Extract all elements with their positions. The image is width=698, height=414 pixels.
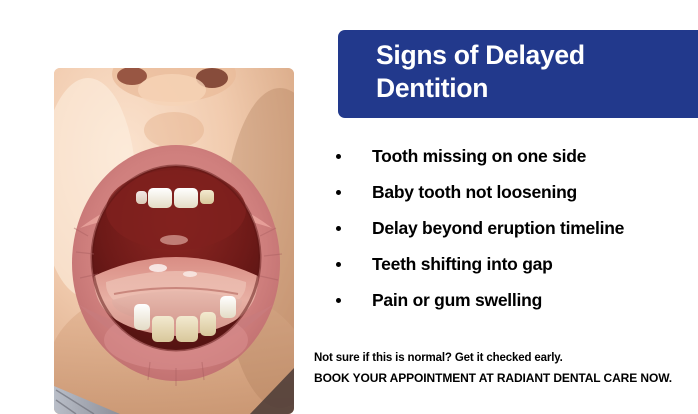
list-item: Baby tooth not loosening: [294, 174, 698, 210]
title-banner: Signs of Delayed Dentition: [338, 30, 698, 118]
footer-cta: Not sure if this is normal? Get it check…: [314, 348, 698, 388]
bullet-point-icon: [336, 226, 341, 231]
content-panel: Signs of Delayed Dentition Tooth missing…: [294, 0, 698, 414]
list-item-label: Teeth shifting into gap: [372, 254, 553, 275]
page-title-line1: Signs of Delayed: [376, 39, 684, 72]
bullet-point-icon: [336, 298, 341, 303]
signs-list: Tooth missing on one side Baby tooth not…: [294, 138, 698, 318]
page-title-line2: Dentition: [376, 72, 684, 105]
list-item: Teeth shifting into gap: [294, 246, 698, 282]
bullet-point-icon: [336, 190, 341, 195]
bullet-point-icon: [336, 262, 341, 267]
footer-prompt: Not sure if this is normal? Get it check…: [314, 348, 698, 368]
bullet-point-icon: [336, 154, 341, 159]
footer-call-to-action: BOOK YOUR APPOINTMENT AT RADIANT DENTAL …: [314, 368, 698, 388]
list-item: Pain or gum swelling: [294, 282, 698, 318]
list-item-label: Baby tooth not loosening: [372, 182, 577, 203]
mouth-photo-illustration: [54, 68, 294, 414]
mouth-photo: [54, 68, 294, 414]
list-item: Tooth missing on one side: [294, 138, 698, 174]
list-item-label: Delay beyond eruption timeline: [372, 218, 624, 239]
list-item-label: Tooth missing on one side: [372, 146, 586, 167]
infographic-root: Signs of Delayed Dentition Tooth missing…: [0, 0, 698, 414]
list-item-label: Pain or gum swelling: [372, 290, 542, 311]
list-item: Delay beyond eruption timeline: [294, 210, 698, 246]
